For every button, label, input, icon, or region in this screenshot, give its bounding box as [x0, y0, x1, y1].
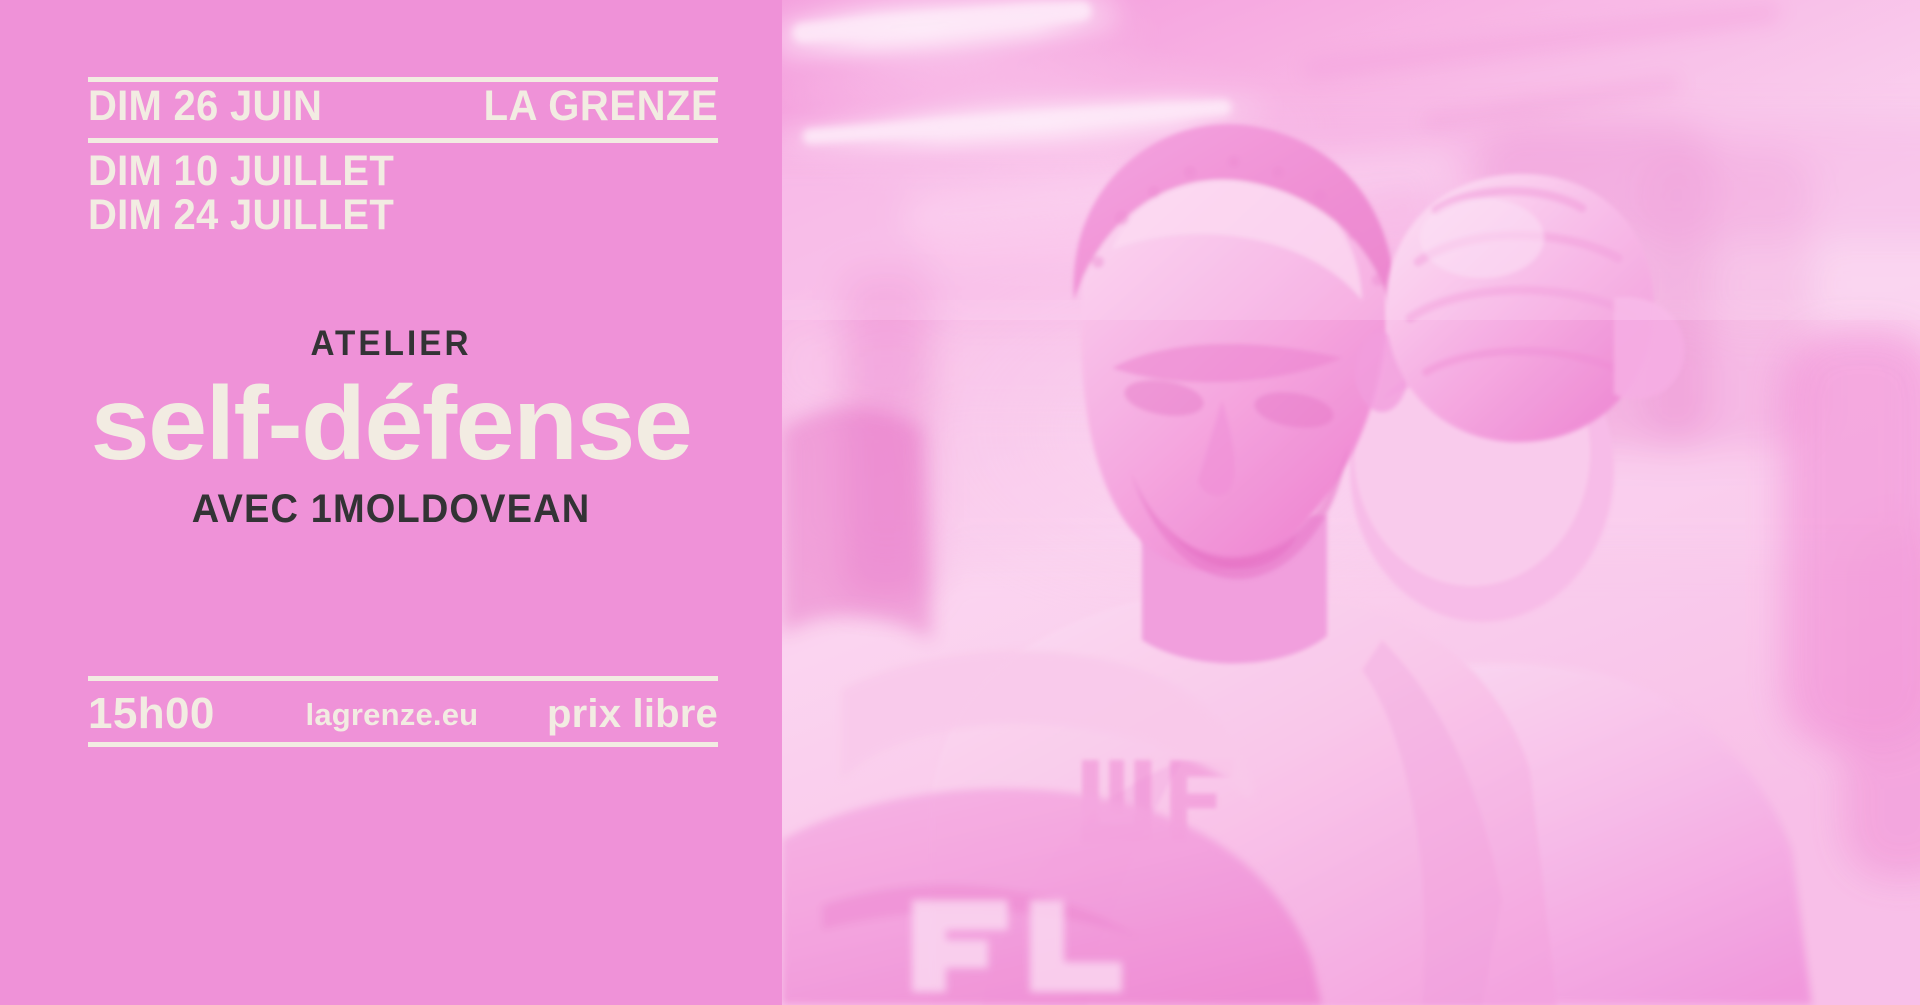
start-time: 15h00: [88, 692, 215, 736]
instructor-byline: AVEC 1MOLDOVEAN: [20, 489, 763, 529]
website-link[interactable]: lagrenze.eu: [306, 699, 479, 730]
primary-date-row: DIM 26 JUIN LA GRENZE: [88, 86, 718, 138]
headline-block: ATELIER self-défense AVEC 1MOLDOVEAN: [0, 326, 782, 529]
event-photo: [782, 0, 1920, 1005]
duotone-photo-illustration: [782, 0, 1920, 1005]
event-kicker: ATELIER: [20, 326, 763, 361]
footer-info-row: 15h00 lagrenze.eu prix libre: [88, 686, 718, 742]
date-third: DIM 24 JUILLET: [88, 194, 394, 237]
price-label: prix libre: [547, 694, 718, 734]
venue-name: LA GRENZE: [483, 86, 718, 128]
poster-canvas: DIM 26 JUIN LA GRENZE DIM 10 JUILLET DIM…: [0, 0, 1920, 1005]
rule-middle: [88, 138, 718, 143]
rule-footer-bottom: [88, 742, 718, 747]
date-second: DIM 10 JUILLET: [88, 150, 394, 193]
left-text-panel: DIM 26 JUIN LA GRENZE DIM 10 JUILLET DIM…: [0, 0, 782, 1005]
page-title: self-défense: [0, 371, 782, 477]
rule-footer-top: [88, 676, 718, 681]
date-first: DIM 26 JUIN: [88, 86, 322, 128]
